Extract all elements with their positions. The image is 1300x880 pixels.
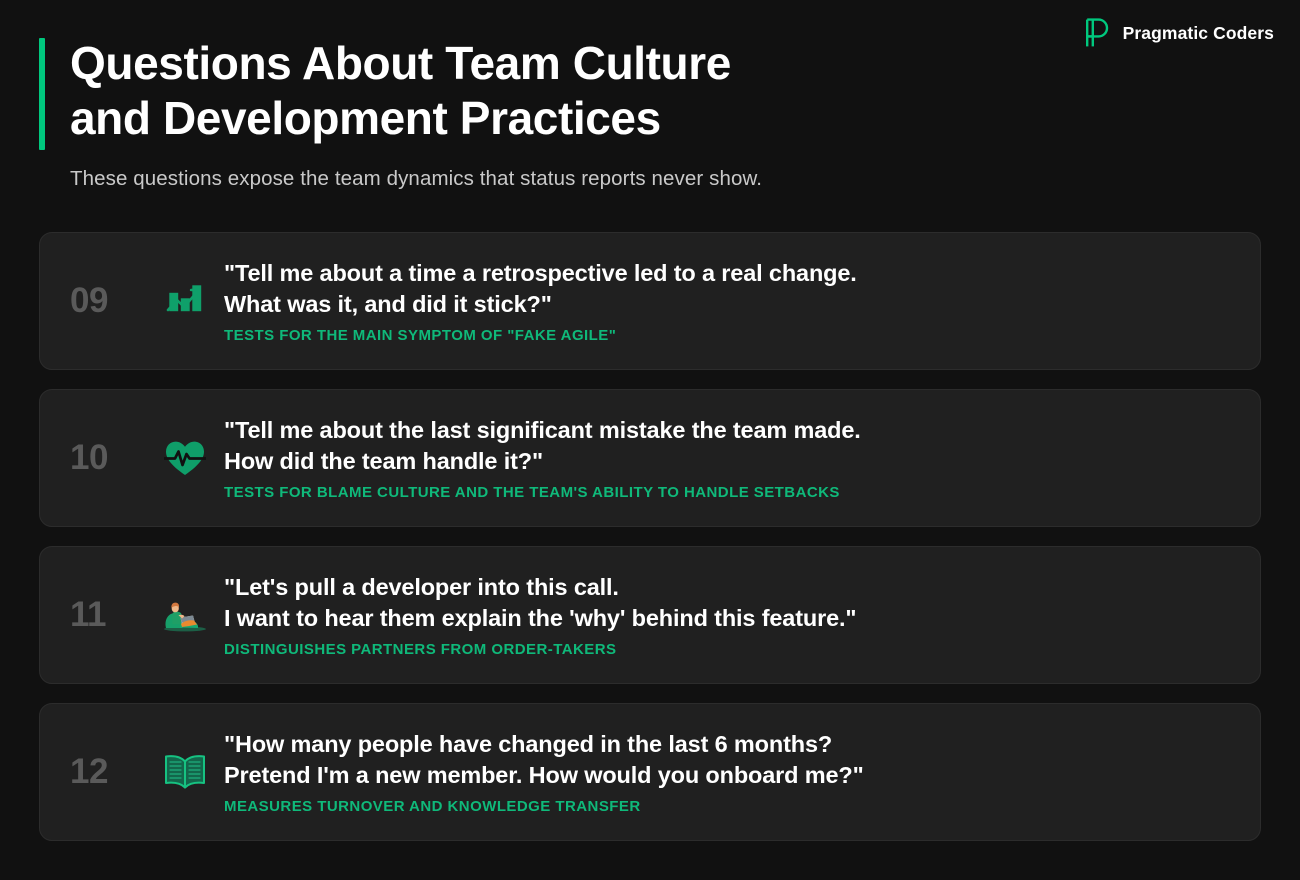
open-book-icon	[148, 753, 222, 791]
card-question: "Tell me about a time a retrospective le…	[224, 258, 1234, 321]
header-text-group: Questions About Team Culture and Develop…	[70, 36, 762, 191]
question-card[interactable]: 09 "Tell me about a time a retrospective…	[39, 232, 1261, 370]
card-body: "Tell me about the last significant mist…	[222, 415, 1234, 502]
slide-root: Pragmatic Coders Questions About Team Cu…	[0, 0, 1300, 880]
developer-on-beanbag-with-laptop-icon	[148, 598, 222, 632]
header-accent-bar	[39, 38, 45, 150]
card-tag: MEASURES TURNOVER AND KNOWLEDGE TRANSFER	[224, 798, 1234, 815]
page-title: Questions About Team Culture and Develop…	[70, 36, 762, 145]
brand-name: Pragmatic Coders	[1123, 23, 1274, 44]
brand-logo: Pragmatic Coders	[1082, 17, 1274, 49]
question-card[interactable]: 11 "Let's pull a developer into this cal…	[39, 546, 1261, 684]
question-card[interactable]: 12 "How many people have changed in the …	[39, 703, 1261, 841]
heart-pulse-icon	[148, 439, 222, 477]
card-body: "Tell me about a time a retrospective le…	[222, 258, 1234, 345]
card-question: "Tell me about the last significant mist…	[224, 415, 1234, 478]
page-subtitle: These questions expose the team dynamics…	[70, 167, 762, 191]
pragmatic-coders-p-monogram-icon	[1082, 17, 1112, 49]
card-number: 10	[66, 438, 148, 478]
card-number: 11	[66, 595, 148, 635]
page-header: Questions About Team Culture and Develop…	[39, 36, 762, 191]
card-body: "Let's pull a developer into this call. …	[222, 572, 1234, 659]
card-question: "How many people have changed in the las…	[224, 729, 1234, 792]
card-number: 12	[66, 752, 148, 792]
card-question: "Let's pull a developer into this call. …	[224, 572, 1234, 635]
card-tag: DISTINGUISHES PARTNERS FROM ORDER-TAKERS	[224, 641, 1234, 658]
card-tag: TESTS FOR BLAME CULTURE AND THE TEAM'S A…	[224, 484, 1234, 501]
card-body: "How many people have changed in the las…	[222, 729, 1234, 816]
chart-bars-arrow-up-icon	[148, 283, 222, 319]
card-number: 09	[66, 281, 148, 321]
question-card-list: 09 "Tell me about a time a retrospective…	[39, 232, 1261, 841]
card-tag: TESTS FOR THE MAIN SYMPTOM OF "FAKE AGIL…	[224, 327, 1234, 344]
question-card[interactable]: 10 "Tell me about the last significant m…	[39, 389, 1261, 527]
